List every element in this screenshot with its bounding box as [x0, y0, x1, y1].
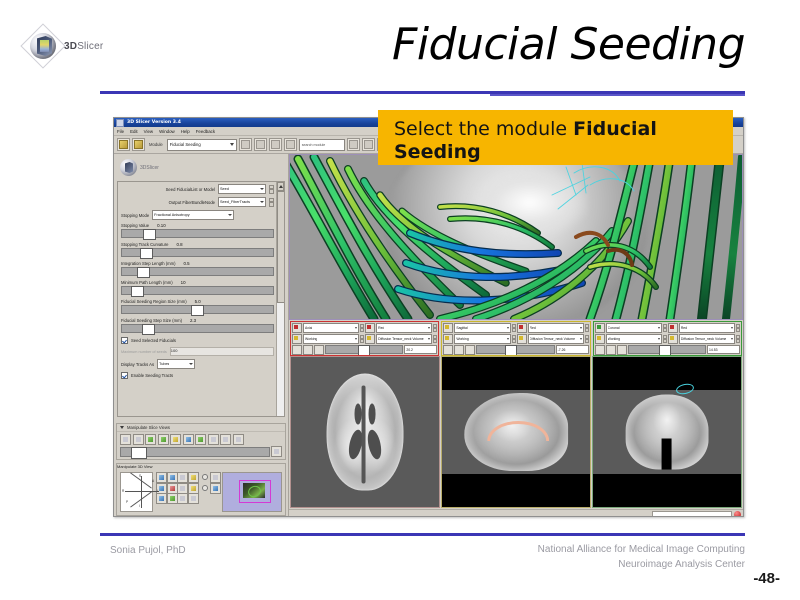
max-seeds-row[interactable]: Maximum number of seeds 100 — [121, 347, 274, 356]
module-panel-scrollbar[interactable] — [276, 182, 284, 416]
slice-visibility-icon-sagittal[interactable] — [443, 323, 453, 333]
callout-text-plain: Select the module — [394, 118, 573, 140]
param-label: Stopping Mode — [121, 213, 149, 218]
scroll-up-button[interactable] — [277, 182, 284, 191]
display-tracks-combo[interactable]: Tubes — [157, 359, 195, 369]
manipulate-slice-views-section[interactable]: Manipulate Slice Views — [116, 423, 286, 461]
param-value: 0.10 — [157, 223, 166, 228]
view3d-tool-12-button[interactable] — [188, 493, 199, 504]
coronal-label-spinner[interactable] — [736, 335, 740, 343]
compass-label-r: R — [122, 489, 124, 493]
instruction-callout: Select the module Fiducial Seeding — [378, 110, 733, 165]
slice-tool-4-button[interactable] — [158, 434, 169, 445]
slice-fit-button[interactable] — [233, 434, 244, 445]
sagittal-background-spinner[interactable] — [512, 335, 516, 343]
previous-module-button[interactable] — [239, 138, 252, 151]
coronal-visibility-icon[interactable] — [606, 345, 616, 355]
seed-selected-fiducials-checkbox[interactable]: Seed Selected Fiducials — [121, 337, 274, 344]
footer-organization: National Alliance for Medical Image Comp… — [538, 543, 745, 572]
load-scene-button[interactable] — [117, 138, 130, 151]
foreground-layer-icon-sagittal[interactable] — [517, 323, 527, 333]
app-body: 3DSlicer Seed FiducialList or Model Seed — [114, 154, 743, 517]
chevron-down-icon — [428, 327, 430, 329]
module-selector-label: Module — [149, 142, 163, 147]
menu-item-file[interactable]: File — [117, 129, 124, 134]
stopping-value-slider[interactable] — [121, 229, 274, 238]
coronal-offset-value[interactable]: 14.53 — [707, 345, 740, 354]
manipulate-3d-view-section[interactable]: Manipulate 3D View S A R L P I — [116, 463, 286, 516]
axial-label-combo[interactable]: Diffusion Tensor_neck Volume — [376, 334, 432, 344]
param-row-stopping-curvature[interactable]: Stopping Track Curvature 0.8 — [121, 242, 274, 257]
slicer-logo-text: 3DSlicer — [64, 41, 103, 52]
menu-item-feedback[interactable]: Feedback — [196, 129, 215, 134]
app-window-icon — [116, 119, 124, 127]
sagittal-slice-view[interactable] — [441, 356, 591, 508]
layout-conventional-button[interactable] — [347, 138, 360, 151]
background-layer-icon-sagittal[interactable] — [443, 334, 453, 344]
menu-item-view[interactable]: View — [144, 129, 153, 134]
param-label: Integration Step Length (mm) — [121, 261, 175, 266]
slide-canvas: 3DSlicer Fiducial Seeding 3D Slicer Vers… — [0, 0, 800, 600]
seed-fiducial-combo[interactable]: Seed — [218, 184, 266, 194]
compass-label-i: I — [139, 504, 140, 508]
background-layer-icon-axial[interactable] — [292, 334, 302, 344]
slice-tool-6-button[interactable] — [183, 434, 194, 445]
module-panel-logo-text: 3DSlicer — [140, 165, 159, 171]
checkbox-icon — [121, 372, 128, 379]
title-rule-accent — [490, 94, 745, 96]
minimum-path-slider[interactable] — [121, 286, 274, 295]
axial-view-spinner[interactable] — [360, 324, 364, 332]
compass-label-p: P — [126, 500, 128, 504]
view3d-thumbnail[interactable] — [222, 472, 282, 512]
chevron-down-icon — [731, 338, 733, 340]
status-progress-field — [652, 511, 732, 518]
stopping-mode-combo[interactable]: Fractional Anisotropy — [152, 210, 234, 220]
axial-background-combo[interactable]: Working — [303, 334, 359, 344]
param-label: Stopping Track Curvature — [121, 242, 168, 247]
region-size-slider[interactable] — [121, 305, 274, 314]
fiber-tracts — [290, 155, 742, 319]
view3d-tool-4-button[interactable] — [188, 472, 199, 483]
foreground-layer-icon-coronal[interactable] — [668, 323, 678, 333]
coronal-view-spinner[interactable] — [663, 324, 667, 332]
axial-slice-view[interactable] — [290, 356, 440, 508]
param-value: 5.0 — [195, 299, 201, 304]
viewer-area: Axial Red — [289, 154, 743, 517]
param-label: Stopping Value — [121, 223, 149, 228]
section-header[interactable]: Manipulate Slice Views — [117, 424, 285, 432]
coronal-link-icon[interactable] — [595, 345, 605, 355]
slice-tool-3-button[interactable] — [145, 434, 156, 445]
sagittal-fit-icon[interactable] — [465, 345, 475, 355]
param-label: Seed FiducialList or Model — [166, 187, 215, 192]
footer-rule — [100, 533, 745, 536]
coronal-offset-slider[interactable] — [628, 345, 706, 354]
view3d-tool-1-button[interactable] — [156, 472, 167, 483]
axial-offset-slider[interactable] — [325, 345, 403, 354]
module-search-input[interactable]: search module — [299, 139, 345, 151]
coronal-brain-image — [626, 395, 709, 470]
stopping-curvature-slider[interactable] — [121, 248, 274, 257]
module-panel: 3DSlicer Seed FiducialList or Model Seed — [114, 154, 289, 517]
param-value: 0.8 — [176, 242, 182, 247]
slicer-logo-icon — [26, 29, 60, 63]
slice-tool-2-button[interactable] — [133, 434, 144, 445]
module-parameters-scrollarea[interactable]: Seed FiducialList or Model Seed Output F… — [117, 181, 285, 417]
step-size-slider[interactable] — [121, 324, 274, 333]
chevron-down-icon — [189, 363, 193, 365]
param-value: 2.3 — [190, 318, 196, 323]
coronal-background-spinner[interactable] — [663, 335, 667, 343]
tractography-3d-view[interactable] — [289, 154, 743, 320]
sagittal-offset-slider[interactable] — [476, 345, 554, 354]
menu-item-window[interactable]: Window — [159, 129, 175, 134]
param-row-seed-fiducial[interactable]: Seed FiducialList or Model Seed — [121, 184, 274, 194]
axial-fit-icon[interactable] — [314, 345, 324, 355]
module-selector-combo[interactable]: Fiducial Seeding — [167, 139, 237, 151]
view3d-tool-8-button[interactable] — [188, 483, 199, 494]
sagittal-label-spinner[interactable] — [585, 335, 589, 343]
view3d-tool-7-button[interactable] — [177, 483, 188, 494]
coronal-fit-icon[interactable] — [617, 345, 627, 355]
param-value: 10 — [181, 280, 186, 285]
app-title: 3D Slicer Version 3.4 — [127, 120, 181, 125]
slice-tool-5-button[interactable] — [170, 434, 181, 445]
param-row-region-size[interactable]: Fiducial Seeding Region Size (mm) 5.0 — [121, 299, 274, 314]
param-label: Fiducial Seeding Region Size (mm) — [121, 299, 187, 304]
error-log-icon[interactable] — [734, 511, 741, 517]
compass-label-s: S — [139, 474, 141, 478]
view3d-tool-6-button[interactable] — [167, 483, 178, 494]
view3d-radio-2[interactable] — [202, 485, 208, 491]
slice-control-bars: Axial Red — [289, 320, 743, 356]
footer-org-line1: National Alliance for Medical Image Comp… — [538, 543, 745, 558]
view3d-toggle-1-button[interactable] — [210, 472, 221, 483]
label-layer-icon-coronal[interactable] — [668, 334, 678, 344]
enable-seeding-tracts-checkbox[interactable]: Enable Seeding Tracts — [121, 372, 274, 379]
view3d-tool-9-button[interactable] — [156, 493, 167, 504]
axial-foreground-combo[interactable]: Red — [376, 323, 432, 333]
axial-visibility-icon[interactable] — [303, 345, 313, 355]
view3d-tool-3-button[interactable] — [177, 472, 188, 483]
chevron-down-icon — [731, 327, 733, 329]
sagittal-background-combo[interactable]: Working — [454, 334, 510, 344]
slice-controller-coronal[interactable]: Coronal Red — [593, 321, 742, 356]
chevron-down-icon — [230, 143, 234, 146]
slice-tool-1-button[interactable] — [120, 434, 131, 445]
chevron-down-icon — [355, 327, 357, 329]
slice-opacity-slider[interactable] — [120, 447, 270, 457]
chevron-down-icon — [580, 338, 582, 340]
scrollbar-thumb[interactable] — [277, 191, 285, 303]
param-label: Display Tracks As — [121, 362, 154, 367]
chevron-down-icon — [658, 338, 660, 340]
axial-link-icon[interactable] — [292, 345, 302, 355]
save-scene-button[interactable] — [132, 138, 145, 151]
next-module-button[interactable] — [254, 138, 267, 151]
page-title: Fiducial Seeding — [392, 22, 745, 68]
slice-tool-7-button[interactable] — [195, 434, 206, 445]
sagittal-foreground-combo[interactable]: Red — [528, 323, 584, 333]
chevron-down-icon — [355, 338, 357, 340]
sagittal-view-combo[interactable]: Sagittal — [454, 323, 510, 333]
max-seeds-label: Maximum number of seeds — [121, 350, 167, 354]
label-layer-icon-axial[interactable] — [365, 334, 375, 344]
module-history-button[interactable] — [269, 138, 282, 151]
module-grid-button[interactable] — [284, 138, 297, 151]
module-panel-logo: 3DSlicer — [114, 154, 288, 181]
output-fiberbundle-combo[interactable]: Seed_FiberTracts — [218, 197, 266, 207]
view3d-tool-2-button[interactable] — [167, 472, 178, 483]
sagittal-offset-value[interactable]: -7.26 — [556, 345, 589, 354]
chevron-down-icon — [580, 327, 582, 329]
param-row-stopping-value[interactable]: Stopping Value 0.10 — [121, 223, 274, 238]
compass-label-a: A — [152, 479, 154, 483]
chevron-down-icon — [260, 201, 264, 203]
slicer-mark-icon — [120, 159, 137, 176]
view3d-tool-11-button[interactable] — [177, 493, 188, 504]
callout-text: Select the module Fiducial Seeding — [394, 118, 721, 164]
axial-label-spinner[interactable] — [433, 335, 437, 343]
page-number: -48- — [753, 570, 780, 587]
slicer-logo: 3DSlicer — [26, 26, 146, 66]
slice-views — [289, 356, 743, 509]
coronal-foreground-spinner[interactable] — [736, 324, 740, 332]
axial-foreground-spinner[interactable] — [433, 324, 437, 332]
sagittal-view-spinner[interactable] — [512, 324, 516, 332]
axial-brain-image — [327, 374, 404, 491]
max-seeds-input[interactable]: 100 — [170, 347, 274, 356]
section-body[interactable]: S A R L P I — [117, 469, 285, 515]
axial-offset-value[interactable]: 20.2 — [404, 345, 437, 354]
slicer-application-window: 3D Slicer Version 3.4 File Edit View Win… — [113, 117, 744, 517]
footer-org-line2: Neuroimage Analysis Center — [538, 558, 745, 573]
slice-controller-sagittal[interactable]: Sagittal Red — [441, 321, 590, 356]
slice-controller-axial[interactable]: Axial Red — [290, 321, 439, 356]
display-tracks-row[interactable]: Display Tracks As Tubes — [121, 359, 274, 369]
fiducial-marker-icon — [676, 384, 692, 392]
integration-step-slider[interactable] — [121, 267, 274, 276]
compass-label-l: L — [157, 489, 159, 493]
slice-compare-button[interactable] — [271, 446, 282, 457]
view3d-toggle-2-button[interactable] — [210, 483, 221, 494]
param-row-step-size[interactable]: Fiducial Seeding Step Size (mm) 2.3 — [121, 318, 274, 333]
section-body[interactable] — [117, 432, 285, 460]
disclosure-triangle-icon — [120, 426, 124, 429]
view3d-tool-10-button[interactable] — [167, 493, 178, 504]
param-row-stopping-mode[interactable]: Stopping Mode Fractional Anisotropy — [121, 210, 274, 220]
corpus-callosum-overlay — [487, 421, 549, 441]
axial-view-combo[interactable]: Axial — [303, 323, 359, 333]
coronal-foreground-combo[interactable]: Red — [679, 323, 735, 333]
orientation-compass[interactable]: S A R L P I — [120, 472, 153, 512]
chevron-down-icon — [228, 214, 232, 216]
background-layer-icon-coronal[interactable] — [595, 334, 605, 344]
slice-link-button[interactable] — [220, 434, 231, 445]
slice-visibility-icon-coronal[interactable] — [595, 323, 605, 333]
chevron-down-icon — [507, 338, 509, 340]
view3d-radio-1[interactable] — [202, 474, 208, 480]
sagittal-foreground-spinner[interactable] — [585, 324, 589, 332]
app-statusbar — [289, 509, 743, 517]
sagittal-link-icon[interactable] — [443, 345, 453, 355]
axial-background-spinner[interactable] — [360, 335, 364, 343]
checkbox-icon — [121, 337, 128, 344]
seed-fiducial-spinner[interactable] — [269, 185, 274, 194]
sagittal-visibility-icon[interactable] — [454, 345, 464, 355]
slice-visibility-icon-axial[interactable] — [292, 323, 302, 333]
chevron-down-icon — [507, 327, 509, 329]
param-label: Fiducial Seeding Step Size (mm) — [121, 318, 182, 323]
menu-item-help[interactable]: Help — [181, 129, 190, 134]
coronal-background-combo[interactable]: Working — [606, 334, 662, 344]
output-fiberbundle-spinner[interactable] — [269, 198, 274, 207]
sagittal-brain-image — [464, 393, 568, 471]
foreground-layer-icon-axial[interactable] — [365, 323, 375, 333]
view3d-toggle-column[interactable] — [200, 472, 220, 512]
sagittal-label-combo[interactable]: Diffusion Tensor_neck Volume — [528, 334, 584, 344]
param-row-minimum-path[interactable]: Minimum Path Length (mm) 10 — [121, 280, 274, 295]
slice-tool-8-button[interactable] — [208, 434, 219, 445]
coronal-label-combo[interactable]: Diffusion Tensor_neck Volume — [679, 334, 735, 344]
view3d-button-grid[interactable] — [156, 472, 197, 512]
param-label: Minimum Path Length (mm) — [121, 280, 173, 285]
chevron-down-icon — [428, 338, 430, 340]
coronal-view-combo[interactable]: Coronal — [606, 323, 662, 333]
param-value: 0.5 — [183, 261, 189, 266]
label-layer-icon-sagittal[interactable] — [517, 334, 527, 344]
chevron-down-icon — [658, 327, 660, 329]
param-row-integration-step[interactable]: Integration Step Length (mm) 0.5 — [121, 261, 274, 276]
param-row-output-fiberbundle[interactable]: Output FiberBundleNode Seed_FiberTracts — [121, 197, 274, 207]
param-label: Output FiberBundleNode — [169, 200, 215, 205]
menu-item-edit[interactable]: Edit — [130, 129, 138, 134]
chevron-down-icon — [260, 188, 264, 190]
coronal-slice-view[interactable] — [592, 356, 742, 508]
layout-fourup-button[interactable] — [362, 138, 375, 151]
footer-author: Sonia Pujol, PhD — [110, 545, 186, 556]
